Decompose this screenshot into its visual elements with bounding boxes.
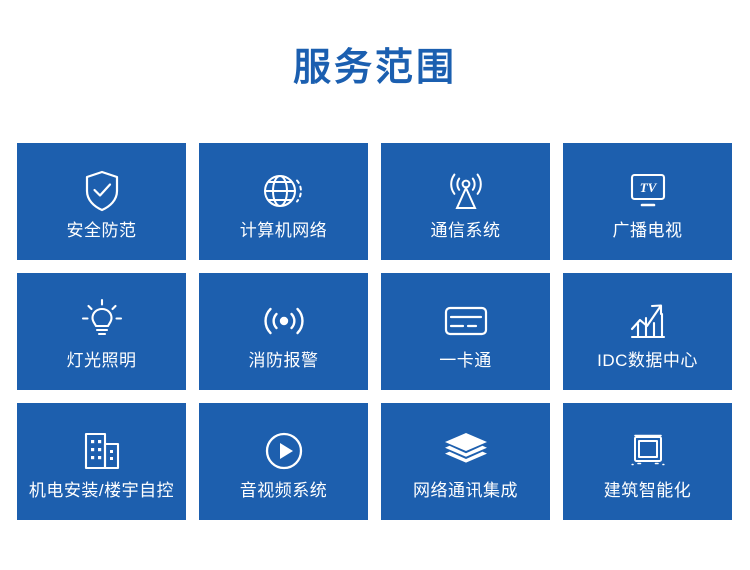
buildings-icon <box>79 429 125 473</box>
tv-icon-text: TV <box>639 180 657 195</box>
alarm-signal-icon <box>261 299 307 343</box>
shield-check-icon <box>79 169 125 213</box>
service-tile-smart-building[interactable]: 建筑智能化 <box>563 403 732 520</box>
service-tile-network-integration[interactable]: 网络通讯集成 <box>381 403 550 520</box>
service-tile-label: 消防报警 <box>249 352 319 371</box>
service-tile-lighting[interactable]: 灯光照明 <box>17 273 186 390</box>
service-tile-label: 一卡通 <box>439 352 492 371</box>
service-tile-computer-network[interactable]: 计算机网络 <box>199 143 368 260</box>
television-icon: TV <box>625 169 671 213</box>
service-tile-label: 安全防范 <box>67 222 137 241</box>
service-tile-grid: 安全防范 计算机网络 <box>17 143 733 520</box>
page-title: 服务范围 <box>0 48 750 90</box>
antenna-signal-icon <box>443 169 489 213</box>
smart-screen-icon <box>625 429 671 473</box>
globe-network-icon <box>261 169 307 213</box>
service-tile-label: 广播电视 <box>613 222 683 241</box>
layers-stack-icon <box>443 429 489 473</box>
service-tile-label: 网络通讯集成 <box>413 482 518 501</box>
service-tile-idc-data-center[interactable]: IDC数据中心 <box>563 273 732 390</box>
service-tile-label: IDC数据中心 <box>597 352 698 371</box>
service-tile-security[interactable]: 安全防范 <box>17 143 186 260</box>
service-tile-fire-alarm[interactable]: 消防报警 <box>199 273 368 390</box>
service-tile-audio-video[interactable]: 音视频系统 <box>199 403 368 520</box>
service-scope-page: 服务范围 安全防范 <box>0 0 750 570</box>
service-tile-label: 建筑智能化 <box>604 482 692 501</box>
play-circle-icon <box>261 429 307 473</box>
card-icon <box>443 299 489 343</box>
service-tile-label: 计算机网络 <box>240 222 328 241</box>
service-tile-label: 灯光照明 <box>67 352 137 371</box>
service-tile-label: 音视频系统 <box>240 482 328 501</box>
growth-chart-icon <box>625 299 671 343</box>
service-tile-label: 机电安装/楼宇自控 <box>29 482 174 501</box>
service-tile-broadcast-tv[interactable]: TV 广播电视 <box>563 143 732 260</box>
lightbulb-icon <box>79 299 125 343</box>
service-tile-mep-building-automation[interactable]: 机电安装/楼宇自控 <box>17 403 186 520</box>
service-tile-smart-card[interactable]: 一卡通 <box>381 273 550 390</box>
service-tile-communication[interactable]: 通信系统 <box>381 143 550 260</box>
service-tile-label: 通信系统 <box>431 222 501 241</box>
